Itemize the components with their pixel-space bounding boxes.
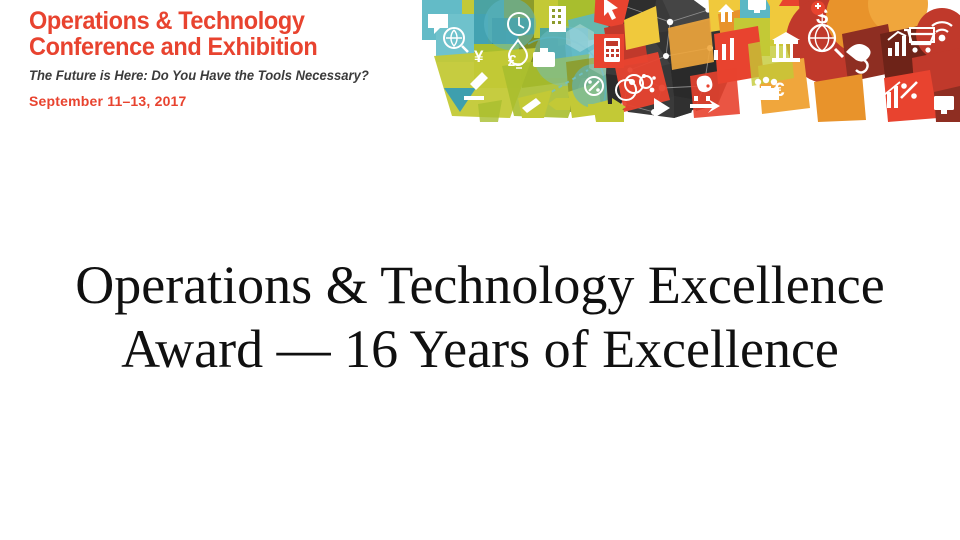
svg-text:£: £ (508, 53, 517, 70)
conference-date: September 11–13, 2017 (29, 93, 409, 109)
conference-brand-line-2: Conference and Exhibition (29, 35, 386, 61)
conference-tagline: The Future is Here: Do You Have the Tool… (29, 68, 396, 84)
conference-brand-line-1: Operations & Technology (29, 9, 386, 35)
slide-title: Operations & Technology Excellence Award… (48, 253, 912, 381)
header-banner: Operations & Technology Conference and E… (0, 0, 960, 124)
svg-text:¥: ¥ (474, 47, 484, 66)
slide-canvas: Operations & Technology Conference and E… (0, 0, 960, 540)
slide-title-line-1: Operations & Technology Excellence (48, 253, 912, 317)
header-collage-artwork: ¥ £ (418, 0, 960, 124)
slide-title-line-2: Award — 16 Years of Excellence (48, 317, 912, 381)
svg-text:€: € (774, 80, 785, 101)
conference-logo-block: Operations & Technology Conference and E… (29, 9, 409, 109)
